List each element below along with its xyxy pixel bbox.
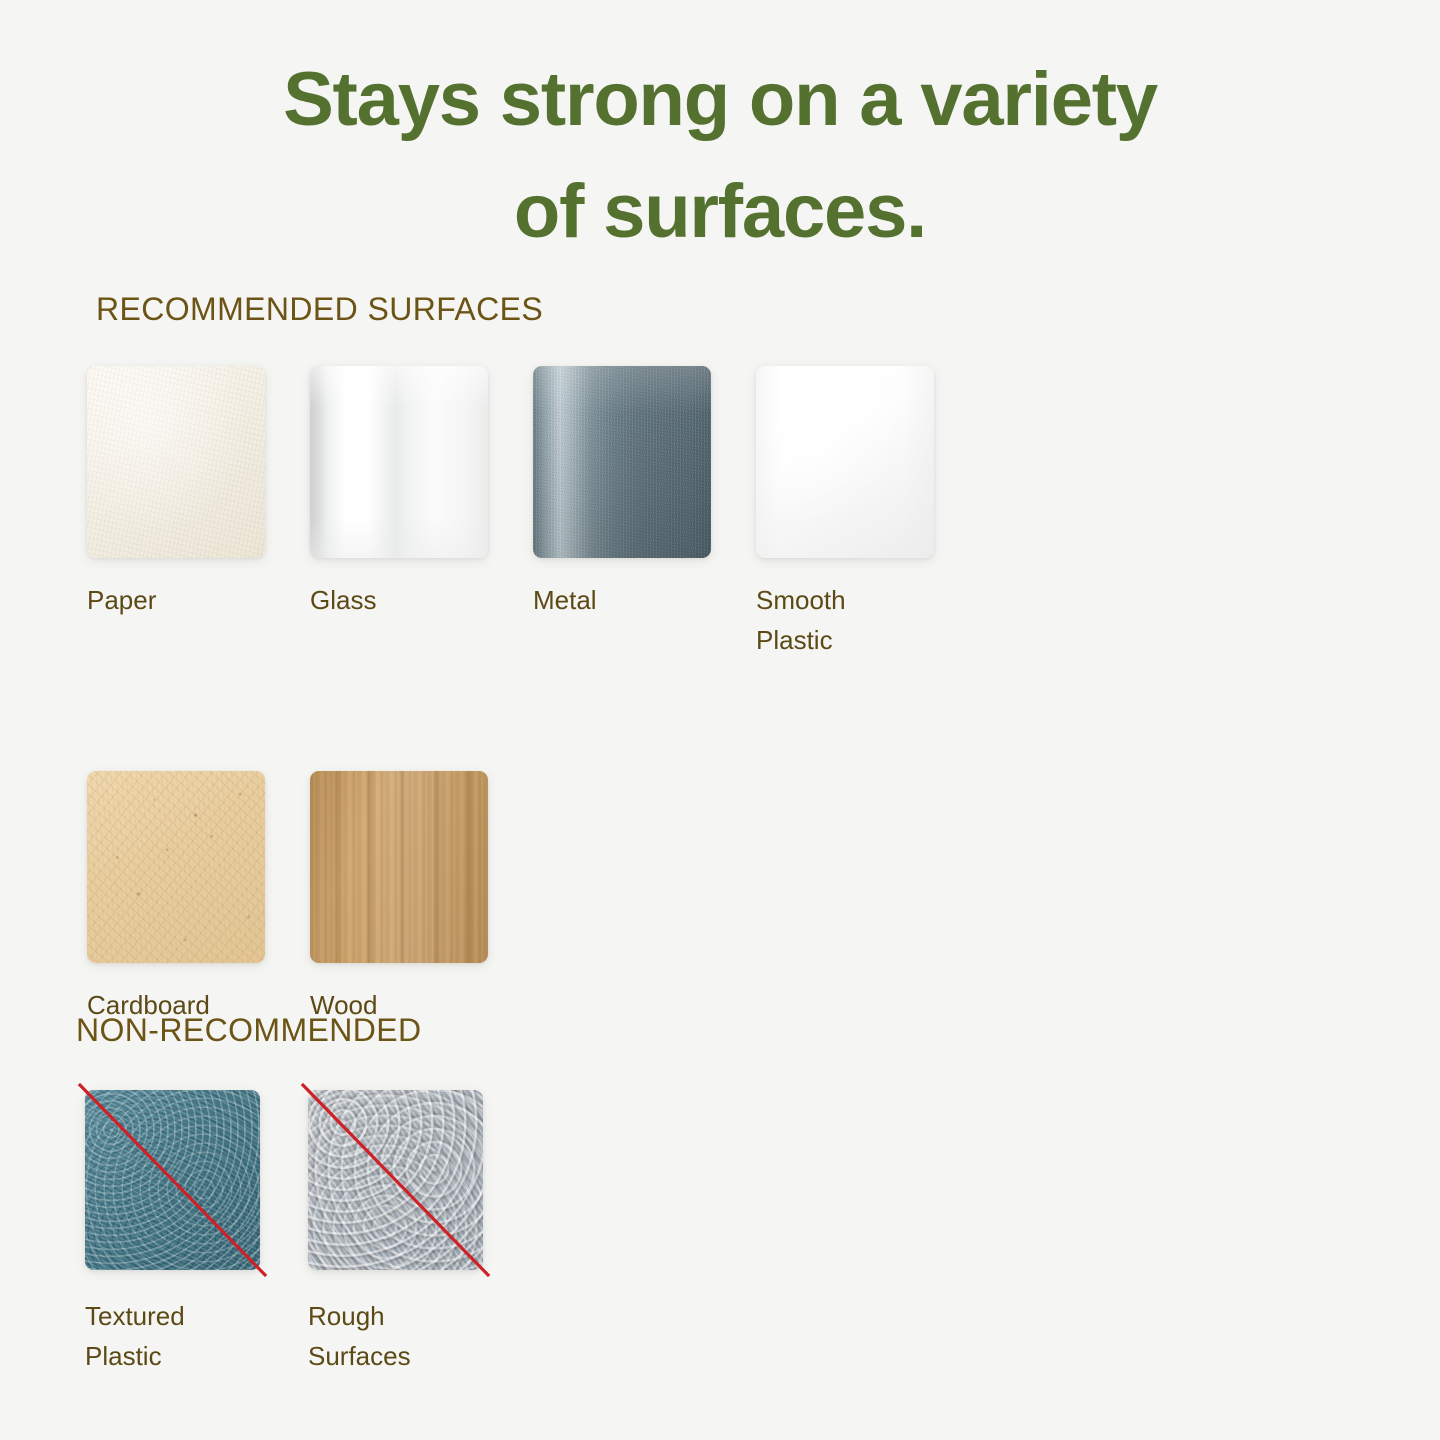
surface-texture-metal (533, 366, 711, 558)
surface-tile-plastic (756, 366, 934, 558)
texture-layer-metal-shade (533, 366, 711, 558)
surface-label-line: Plastic (756, 620, 936, 660)
surface-tile-metal (533, 366, 711, 558)
surface-swatch-rough: RoughSurfaces (308, 1090, 531, 1377)
surface-tile-rough (308, 1090, 483, 1270)
surface-label-line: Metal (533, 580, 713, 620)
surface-swatch-glass: Glass (310, 366, 533, 661)
page-title-line-2: of surfaces. (0, 156, 1440, 268)
surface-swatch-paper: Paper (87, 366, 310, 661)
surface-label: Paper (87, 580, 267, 620)
surface-swatch-cardboard: Cardboard (87, 771, 310, 1025)
surface-label-line: Textured (85, 1296, 265, 1336)
surface-label-line: Smooth (756, 580, 936, 620)
surface-tile-wood (310, 771, 488, 963)
surface-swatch-wood: Wood (310, 771, 533, 1025)
surface-label-line: Paper (87, 580, 267, 620)
texture-layer-wood-shade (310, 771, 488, 963)
texture-layer-paper-shade (87, 366, 265, 558)
surface-label: Glass (310, 580, 490, 620)
surface-texture-textured-plastic (85, 1090, 260, 1270)
surface-texture-paper (87, 366, 265, 558)
surface-label: Metal (533, 580, 713, 620)
surface-swatch-plastic: SmoothPlastic (756, 366, 979, 661)
surface-texture-glass (310, 366, 488, 558)
surface-label: SmoothPlastic (756, 580, 936, 661)
surface-texture-plastic (756, 366, 934, 558)
texture-layer-rough-bumps (308, 1090, 483, 1270)
surface-tile-glass (310, 366, 488, 558)
texture-layer-glass-shade (310, 366, 488, 558)
surface-texture-rough (308, 1090, 483, 1270)
surface-swatch-textured-plastic: TexturedPlastic (85, 1090, 308, 1377)
page-title: Stays strong on a variety of surfaces. (0, 44, 1440, 267)
surface-label: RoughSurfaces (308, 1296, 488, 1377)
texture-layer-cardboard-flecks (87, 771, 265, 963)
surface-texture-wood (310, 771, 488, 963)
non-recommended-surfaces-grid: TexturedPlasticRoughSurfaces (85, 1090, 785, 1377)
surface-tile-textured-plastic (85, 1090, 260, 1270)
page-title-line-1: Stays strong on a variety (0, 44, 1440, 156)
surface-label: TexturedPlastic (85, 1296, 265, 1377)
surface-label-line: Rough (308, 1296, 488, 1336)
surface-label-line: Glass (310, 580, 490, 620)
surface-tile-paper (87, 366, 265, 558)
surface-swatch-metal: Metal (533, 366, 756, 661)
section-header-non-recommended: NON-RECOMMENDED (76, 1012, 422, 1049)
surface-tile-cardboard (87, 771, 265, 963)
texture-layer-tplastic-bumps (85, 1090, 260, 1270)
surface-label-line: Surfaces (308, 1336, 488, 1376)
section-header-recommended: RECOMMENDED SURFACES (96, 291, 543, 328)
surface-texture-cardboard (87, 771, 265, 963)
texture-layer-plastic-shade (756, 366, 934, 558)
surface-label-line: Plastic (85, 1336, 265, 1376)
